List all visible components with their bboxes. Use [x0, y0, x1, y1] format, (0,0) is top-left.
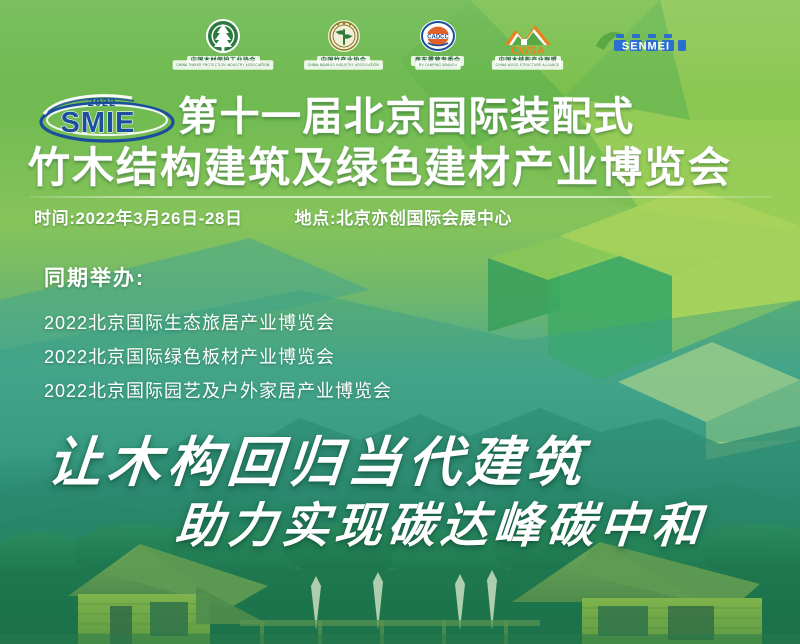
svg-text:CWSA: CWSA	[511, 45, 545, 57]
concurrent-events-list: 2022北京国际生态旅居产业博览会 2022北京国际绿色板材产业博览会 2022…	[44, 306, 392, 408]
smie-logo: 2022 SMIE	[36, 92, 178, 144]
logo-en-label: CHINA BAMBOO INDUSTRY ASSOCIATION	[304, 60, 382, 70]
bamboo-seal-icon	[323, 17, 365, 62]
concurrent-heading: 同期举办:	[44, 262, 392, 292]
logo-en-label: RV CAMPING BRANCH	[415, 60, 461, 70]
smie-wordmark: SMIE	[61, 107, 136, 139]
concurrent-event-item: 2022北京国际园艺及户外家居产业博览会	[44, 374, 392, 408]
slogan-line-2: 助力实现碳达峰碳中和	[173, 486, 709, 556]
headline-divider	[30, 196, 772, 198]
logo-item: 中国木材保护工业协会 CHINA TIMBER PROTECTION INDUS…	[170, 13, 276, 73]
svg-text:SENMEI: SENMEI	[621, 40, 669, 52]
logo-item: CADCC 房车露营专委会 RV CAMPING BRANCH	[411, 13, 465, 73]
cadcc-badge-icon: CADCC	[416, 17, 460, 62]
logo-en-label: CHINA TIMBER PROTECTION INDUSTRY ASSOCIA…	[173, 60, 274, 70]
event-venue: 地点:北京亦创国际会展中心	[295, 204, 512, 229]
logo-item: SENMEI	[592, 13, 700, 73]
concurrent-event-item: 2022北京国际生态旅居产业博览会	[44, 306, 392, 340]
cwsa-house-icon: CWSA	[501, 17, 555, 62]
concurrent-event-item: 2022北京国际绿色板材产业博览会	[44, 340, 392, 374]
event-info-line: 时间:2022年3月26日-28日 地点:北京亦创国际会展中心	[34, 204, 512, 229]
logo-item: 中国竹产业协会 CHINA BAMBOO INDUSTRY ASSOCIATIO…	[302, 13, 385, 73]
senmei-leaf-icon: SENMEI	[592, 24, 700, 63]
headline-line-1: 第十一届北京国际装配式	[178, 92, 635, 142]
event-date: 时间:2022年3月26日-28日	[34, 204, 243, 229]
exhibition-poster: 中国木材保护工业协会 CHINA TIMBER PROTECTION INDUS…	[0, 0, 800, 644]
organizer-logo-strip: 中国木材保护工业协会 CHINA TIMBER PROTECTION INDUS…	[0, 12, 800, 74]
tree-emblem-icon	[201, 17, 245, 62]
logo-item: CWSA 中国木结构产业联盟 CHINA WOOD STRUCTURE ALLI…	[490, 13, 565, 73]
headline-line-2: 竹木结构建筑及绿色建材产业博览会	[28, 142, 732, 194]
logo-en-label: CHINA WOOD STRUCTURE ALLIANCE	[492, 60, 563, 70]
svg-text:CADCC: CADCC	[427, 34, 449, 40]
concurrent-events-block: 同期举办: 2022北京国际生态旅居产业博览会 2022北京国际绿色板材产业博览…	[44, 262, 392, 408]
